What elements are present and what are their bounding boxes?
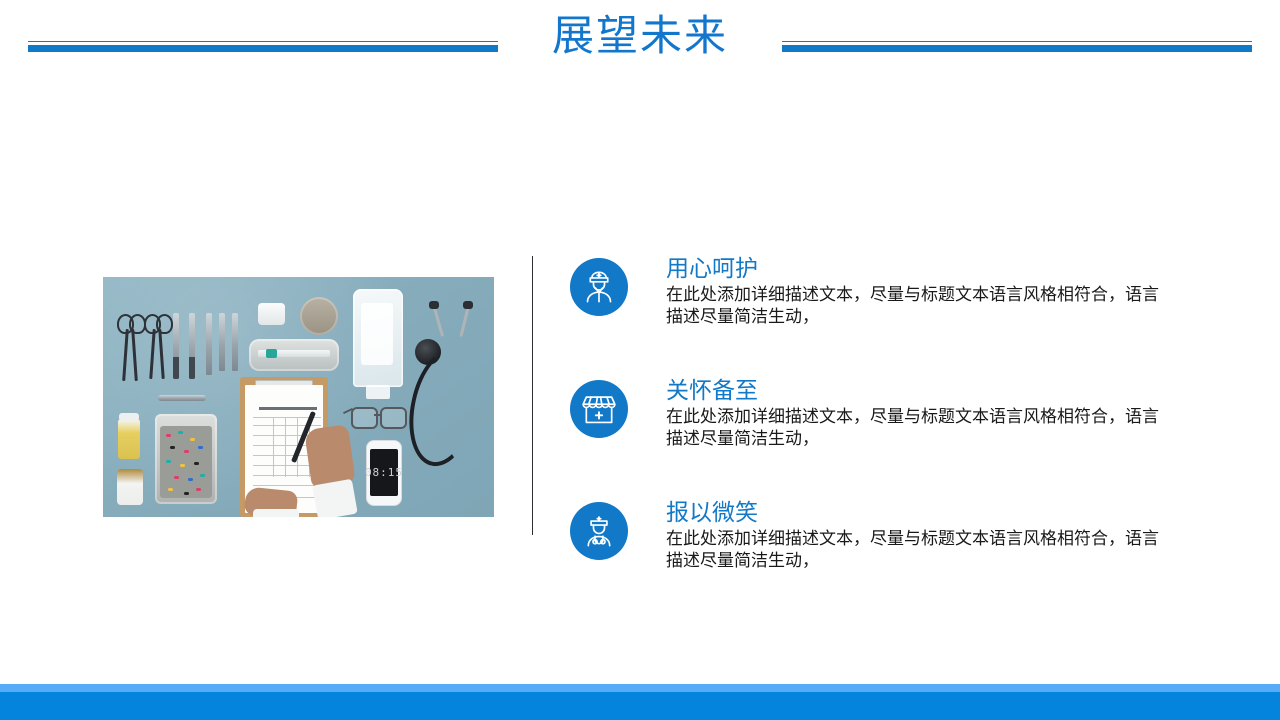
feature-description: 在此处添加详细描述文本，尽量与标题文本语言风格相符合，语言描述尽量简洁生动， [666, 406, 1171, 450]
footer-bar-light [0, 684, 1280, 692]
nurse-icon [570, 258, 628, 316]
feature-title: 报以微笑 [666, 498, 1186, 528]
feature-item[interactable]: 关怀备至 在此处添加详细描述文本，尽量与标题文本语言风格相符合，语言描述尽量简洁… [570, 376, 1190, 476]
feature-description: 在此处添加详细描述文本，尽量与标题文本语言风格相符合，语言描述尽量简洁生动， [666, 528, 1171, 572]
doctor-stethoscope-icon [570, 502, 628, 560]
feature-title: 用心呵护 [666, 254, 1186, 284]
feature-list: 用心呵护 在此处添加详细描述文本，尽量与标题文本语言风格相符合，语言描述尽量简洁… [0, 0, 1280, 720]
feature-body: 关怀备至 在此处添加详细描述文本，尽量与标题文本语言风格相符合，语言描述尽量简洁… [666, 376, 1186, 450]
feature-description: 在此处添加详细描述文本，尽量与标题文本语言风格相符合，语言描述尽量简洁生动， [666, 284, 1171, 328]
footer-bar-dark [0, 692, 1280, 720]
feature-title: 关怀备至 [666, 376, 1186, 406]
feature-body: 报以微笑 在此处添加详细描述文本，尽量与标题文本语言风格相符合，语言描述尽量简洁… [666, 498, 1186, 572]
feature-item[interactable]: 报以微笑 在此处添加详细描述文本，尽量与标题文本语言风格相符合，语言描述尽量简洁… [570, 498, 1190, 598]
feature-item[interactable]: 用心呵护 在此处添加详细描述文本，尽量与标题文本语言风格相符合，语言描述尽量简洁… [570, 254, 1190, 354]
pharmacy-store-icon [570, 380, 628, 438]
feature-body: 用心呵护 在此处添加详细描述文本，尽量与标题文本语言风格相符合，语言描述尽量简洁… [666, 254, 1186, 328]
